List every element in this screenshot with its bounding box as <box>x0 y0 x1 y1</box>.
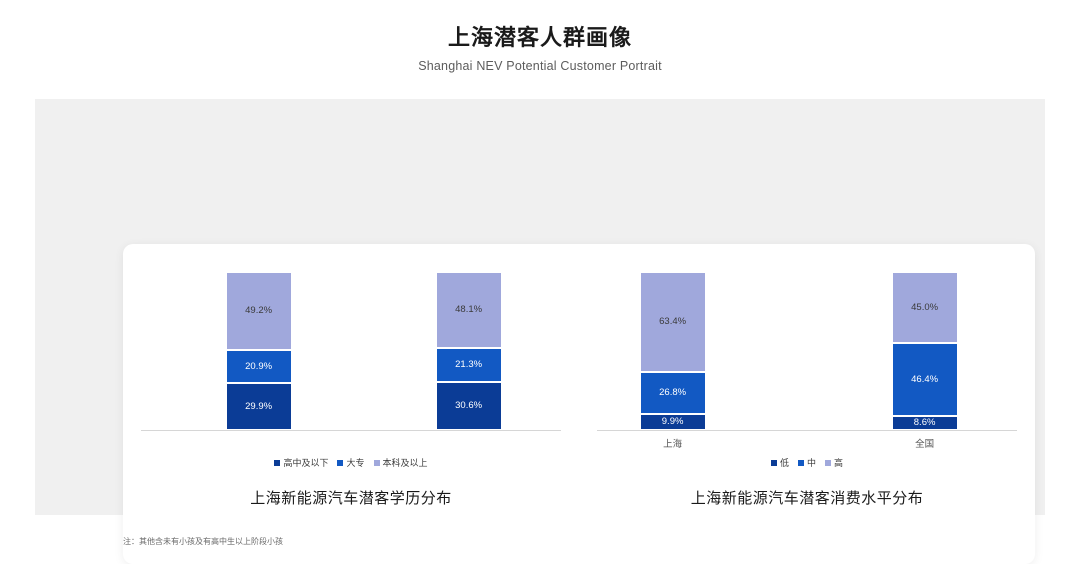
bar-value-label: 20.9% <box>245 362 272 372</box>
bar-segment: 26.8% <box>640 372 706 414</box>
tick-row-1: 上海全国 <box>597 434 1017 452</box>
bar-value-label: 63.4% <box>659 317 686 327</box>
legend-label: 高中及以下 <box>283 456 328 469</box>
legend-item[interactable]: 大专 <box>337 456 364 469</box>
legend-label: 本科及以上 <box>383 456 428 469</box>
legend-item[interactable]: 高中及以下 <box>274 456 328 469</box>
legend-item[interactable]: 本科及以上 <box>374 456 428 469</box>
x-axis-tick-label: 全国 <box>892 436 958 450</box>
bar-value-label: 49.2% <box>245 306 272 316</box>
bar-segment: 20.9% <box>226 350 292 383</box>
stacked-bar: 48.1%21.3%30.6% <box>436 272 502 430</box>
legend-consumption: 低中高 <box>579 456 1035 469</box>
stacked-bar: 49.2%20.9%29.9% <box>226 272 292 430</box>
chart-panel-consumption: 63.4%26.8%9.9%45.0%46.4%8.6% 上海全国 低中高 <box>579 244 1035 519</box>
chart-caption-consumption: 上海新能源汽车潜客消费水平分布 <box>579 487 1035 508</box>
axis-line-0 <box>141 430 561 431</box>
bar-segment: 8.6% <box>892 416 958 430</box>
legend-item[interactable]: 低 <box>771 456 789 469</box>
x-axis-tick-label: 上海 <box>640 436 706 450</box>
bar-value-label: 29.9% <box>245 402 272 412</box>
bar-segment: 45.0% <box>892 272 958 343</box>
tick-row-0 <box>141 434 561 452</box>
plot-area-0: 49.2%20.9%29.9%48.1%21.3%30.6% <box>141 272 561 430</box>
legend-item[interactable]: 高 <box>825 456 843 469</box>
legend-swatch-icon <box>771 460 777 466</box>
bar-value-label: 45.0% <box>911 303 938 313</box>
bar-segment: 9.9% <box>640 414 706 430</box>
charts-row: 49.2%20.9%29.9%48.1%21.3%30.6% 高中及以下大专本科… <box>123 244 1035 519</box>
legend-education: 高中及以下大专本科及以上 <box>123 456 579 469</box>
page-header: 上海潜客人群画像 Shanghai NEV Potential Customer… <box>0 0 1080 73</box>
legend-label: 高 <box>834 456 843 469</box>
footnote: 注：其他含未有小孩及有高中生以上阶段小孩 <box>123 536 283 547</box>
bar-segment: 21.3% <box>436 348 502 382</box>
bar-value-label: 30.6% <box>455 401 482 411</box>
charts-card: 49.2%20.9%29.9%48.1%21.3%30.6% 高中及以下大专本科… <box>123 244 1035 564</box>
legend-item[interactable]: 中 <box>798 456 816 469</box>
bar-segment: 49.2% <box>226 272 292 350</box>
legend-swatch-icon <box>274 460 280 466</box>
bar-value-label: 46.4% <box>911 375 938 385</box>
plot-area-1: 63.4%26.8%9.9%45.0%46.4%8.6% <box>597 272 1017 430</box>
legend-label: 大专 <box>346 456 364 469</box>
legend-swatch-icon <box>337 460 343 466</box>
legend-swatch-icon <box>374 460 380 466</box>
content-band: 49.2%20.9%29.9%48.1%21.3%30.6% 高中及以下大专本科… <box>35 99 1045 515</box>
axis-line-1 <box>597 430 1017 431</box>
legend-swatch-icon <box>798 460 804 466</box>
bar-segment: 30.6% <box>436 382 502 430</box>
stacked-bar: 45.0%46.4%8.6% <box>892 272 958 430</box>
page-subtitle: Shanghai NEV Potential Customer Portrait <box>0 59 1080 73</box>
bar-value-label: 8.6% <box>914 418 936 428</box>
bar-value-label: 48.1% <box>455 305 482 315</box>
legend-label: 中 <box>807 456 816 469</box>
chart-caption-education: 上海新能源汽车潜客学历分布 <box>123 487 579 508</box>
bar-value-label: 9.9% <box>662 417 684 427</box>
page-title: 上海潜客人群画像 <box>0 24 1080 52</box>
bar-segment: 29.9% <box>226 383 292 430</box>
chart-panel-education: 49.2%20.9%29.9%48.1%21.3%30.6% 高中及以下大专本科… <box>123 244 579 519</box>
bar-segment: 46.4% <box>892 343 958 416</box>
bar-segment: 48.1% <box>436 272 502 348</box>
bar-value-label: 21.3% <box>455 360 482 370</box>
bar-segment: 63.4% <box>640 272 706 372</box>
stacked-bar: 63.4%26.8%9.9% <box>640 272 706 430</box>
legend-swatch-icon <box>825 460 831 466</box>
legend-label: 低 <box>780 456 789 469</box>
bar-value-label: 26.8% <box>659 388 686 398</box>
